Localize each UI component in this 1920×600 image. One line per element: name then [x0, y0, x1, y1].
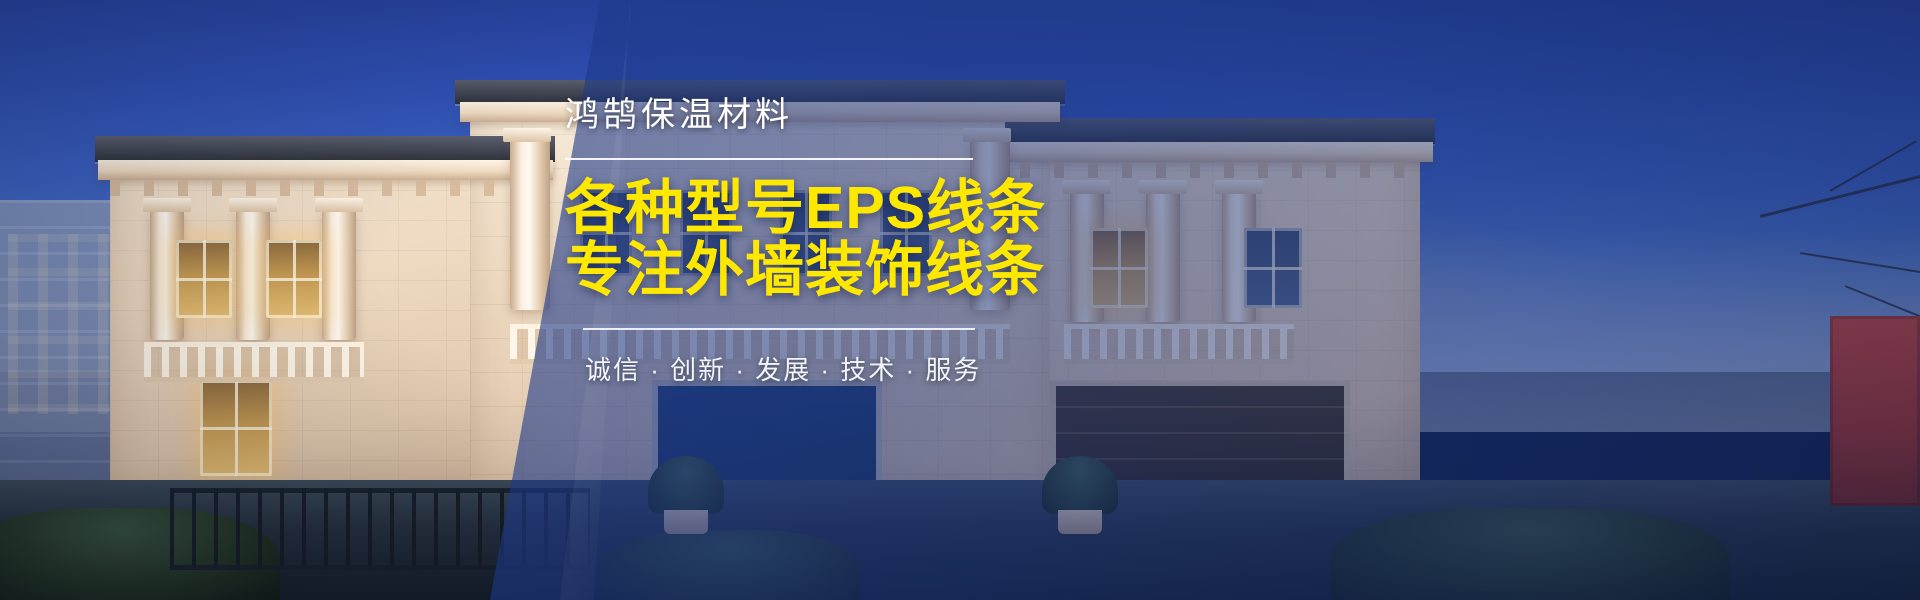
- hedge: [1330, 508, 1730, 600]
- divider-top: [565, 158, 973, 160]
- banner-text-block: 鸿鹄保温材料 各种型号EPS线条 专注外墙装饰线条 诚信 · 创新 · 发展 ·…: [565, 98, 1035, 387]
- column: [236, 210, 270, 340]
- window-lit: [266, 240, 322, 318]
- company-slogan: 诚信 · 创新 · 发展 · 技术 · 服务: [585, 350, 1035, 387]
- roof-left: [95, 136, 555, 162]
- balustrade: [144, 342, 364, 382]
- window-lit: [1090, 228, 1148, 308]
- window-lit: [200, 380, 272, 476]
- column: [322, 210, 356, 340]
- cornice-right: [1008, 142, 1433, 162]
- iron-fence: [170, 488, 590, 570]
- hero-banner: 鸿鹄保温材料 各种型号EPS线条 专注外墙装饰线条 诚信 · 创新 · 发展 ·…: [0, 0, 1920, 600]
- headline-line-2: 专注外墙装饰线条: [565, 240, 1035, 302]
- window-dark: [1244, 228, 1302, 308]
- dentil-row-right: [1020, 162, 1420, 178]
- headline-line-1: 各种型号EPS线条: [565, 178, 1035, 240]
- red-container: [1830, 316, 1920, 506]
- column: [510, 140, 550, 310]
- balustrade: [1064, 324, 1294, 364]
- headline-group: 各种型号EPS线条 专注外墙装饰线条: [565, 178, 1035, 302]
- divider-bottom: [583, 328, 975, 330]
- hedge: [600, 530, 860, 600]
- roof-right: [1005, 118, 1435, 144]
- cornice-left: [98, 160, 553, 180]
- column: [1146, 192, 1180, 322]
- window-lit: [176, 240, 232, 318]
- dentil-row-left: [110, 180, 540, 196]
- company-brand-name: 鸿鹄保温材料: [565, 98, 1035, 132]
